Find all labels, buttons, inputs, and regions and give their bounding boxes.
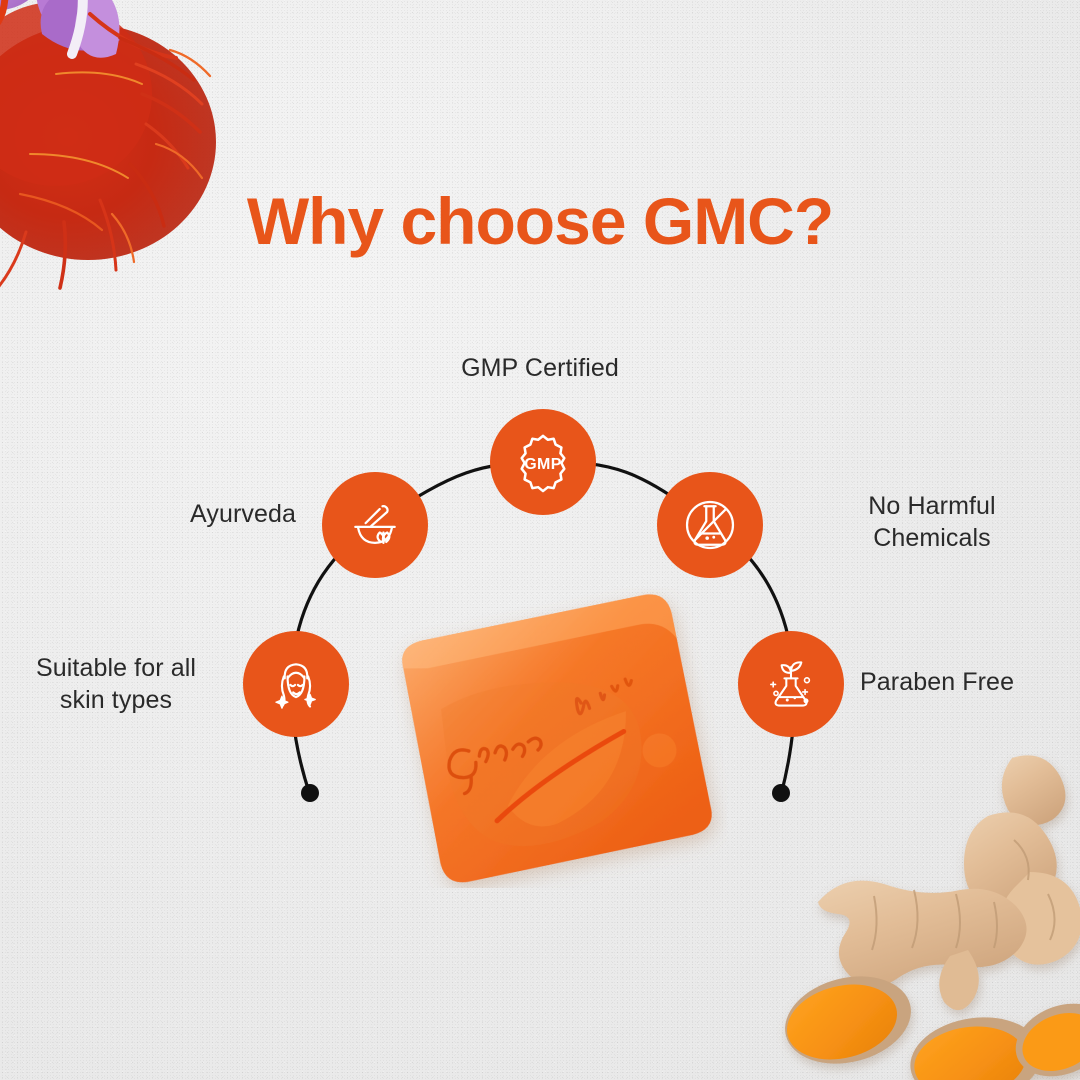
label-ayurveda: Ayurveda: [0, 498, 296, 530]
feature-icon-no-harmful-chemicals[interactable]: [657, 472, 763, 578]
natural-flask-leaf-icon: [761, 654, 821, 714]
product-soap-bar: [372, 588, 727, 888]
feature-icon-ayurveda[interactable]: [322, 472, 428, 578]
label-gmp-certified: GMP Certified: [0, 352, 1080, 384]
label-no-harmful-chemicals: No Harmful Chemicals: [784, 490, 1080, 554]
feature-icon-suitable-for-all-skin-types[interactable]: [243, 631, 349, 737]
decoration-saffron-threads: [0, 0, 260, 314]
page-title: Why choose GMC?: [0, 183, 1080, 259]
gmp-seal-icon: GMP: [512, 431, 574, 493]
feature-icon-gmp-certified[interactable]: GMP: [490, 409, 596, 515]
arc-endpoint-dot-left: [301, 784, 319, 802]
no-chemicals-flask-icon: [680, 495, 740, 555]
mortar-pestle-leaf-icon: [345, 495, 405, 555]
feature-icon-paraben-free[interactable]: [738, 631, 844, 737]
decoration-turmeric-roots: [762, 754, 1080, 1080]
infographic-canvas: GMP: [0, 0, 1080, 1080]
label-paraben-free: Paraben Free: [860, 666, 1080, 698]
svg-text:GMP: GMP: [524, 456, 562, 473]
glowing-face-icon: [266, 654, 326, 714]
label-suitable-for-all-skin-types: Suitable for all skin types: [0, 652, 232, 716]
